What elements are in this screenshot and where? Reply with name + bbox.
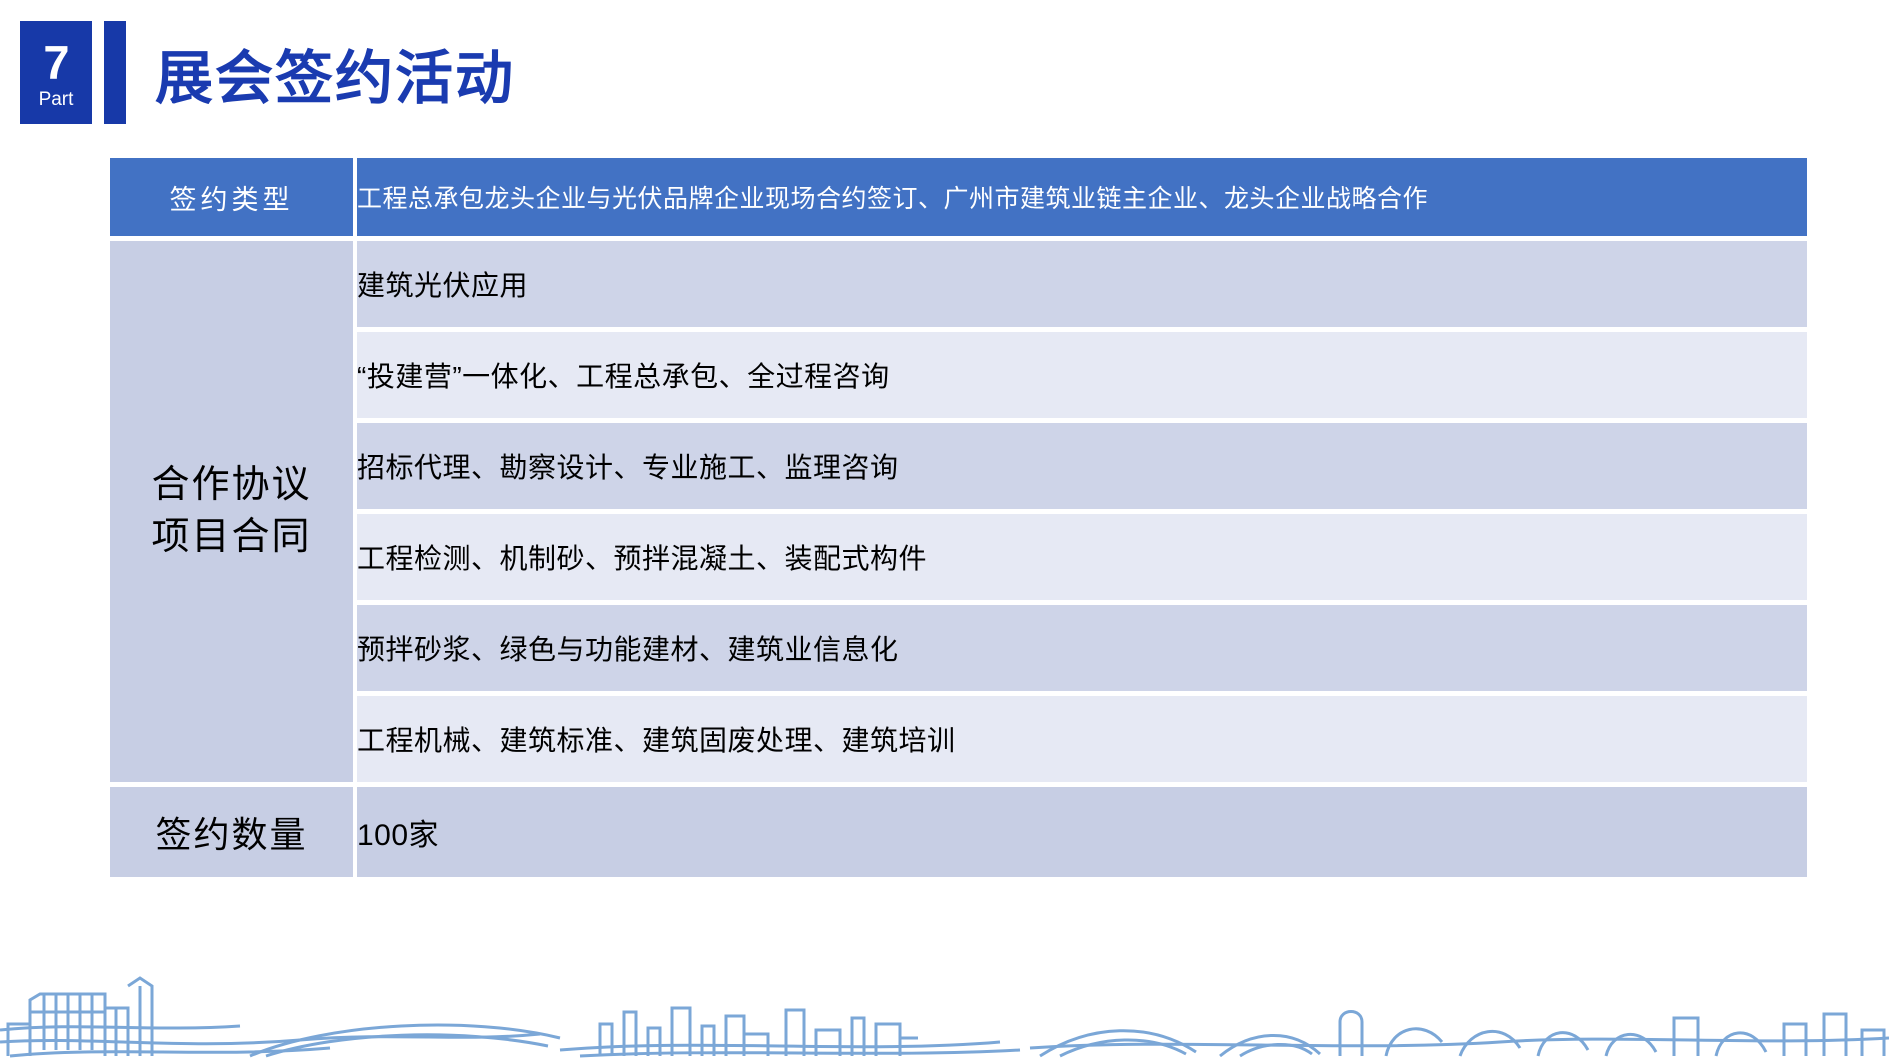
table-header-label: 签约类型 [110, 158, 353, 236]
table-row: 工程机械、建筑标准、建筑固废处理、建筑培训 [110, 696, 1807, 782]
group-label-cell: 合作协议 项目合同 [110, 241, 353, 782]
part-word-label: Part [39, 90, 74, 109]
table-cell-value: 预拌砂浆、绿色与功能建材、建筑业信息化 [357, 605, 1807, 691]
table-header-value: 工程总承包龙头企业与光伏品牌企业现场合约签订、广州市建筑业链主企业、龙头企业战略… [357, 158, 1807, 236]
table-row: 招标代理、勘察设计、专业施工、监理咨询 [110, 423, 1807, 509]
table-body: 签约类型 工程总承包龙头企业与光伏品牌企业现场合约签订、广州市建筑业链主企业、龙… [110, 158, 1807, 877]
table-cell-value: “投建营”一体化、工程总承包、全过程咨询 [357, 332, 1807, 418]
table-row: 工程检测、机制砂、预拌混凝土、装配式构件 [110, 514, 1807, 600]
city-skyline-outline-icon [0, 938, 1889, 1058]
slide-header: 7 Part 展会签约活动 [0, 0, 1889, 150]
signing-count-value: 100家 [357, 787, 1807, 877]
signing-count-label: 签约数量 [110, 787, 353, 877]
signing-count-row: 签约数量 100家 [110, 787, 1807, 877]
table-cell-value: 招标代理、勘察设计、专业施工、监理咨询 [357, 423, 1807, 509]
group-label-line1: 合作协议 [110, 460, 353, 511]
table-header-row: 签约类型 工程总承包龙头企业与光伏品牌企业现场合约签订、广州市建筑业链主企业、龙… [110, 158, 1807, 236]
table-row: 合作协议 项目合同 建筑光伏应用 [110, 241, 1807, 327]
signing-activity-table: 签约类型 工程总承包龙头企业与光伏品牌企业现场合约签订、广州市建筑业链主企业、龙… [110, 158, 1807, 877]
part-number-badge: 7 Part [20, 21, 92, 124]
part-number: 7 [43, 39, 68, 86]
table-row: 预拌砂浆、绿色与功能建材、建筑业信息化 [110, 605, 1807, 691]
table-cell-value: 工程机械、建筑标准、建筑固废处理、建筑培训 [357, 696, 1807, 782]
header-accent-bar [104, 21, 126, 124]
table-cell-value: 建筑光伏应用 [357, 241, 1807, 327]
table-cell-value: 工程检测、机制砂、预拌混凝土、装配式构件 [357, 514, 1807, 600]
table-row: “投建营”一体化、工程总承包、全过程咨询 [110, 332, 1807, 418]
group-label-line2: 项目合同 [110, 512, 353, 563]
page-title: 展会签约活动 [155, 31, 515, 115]
